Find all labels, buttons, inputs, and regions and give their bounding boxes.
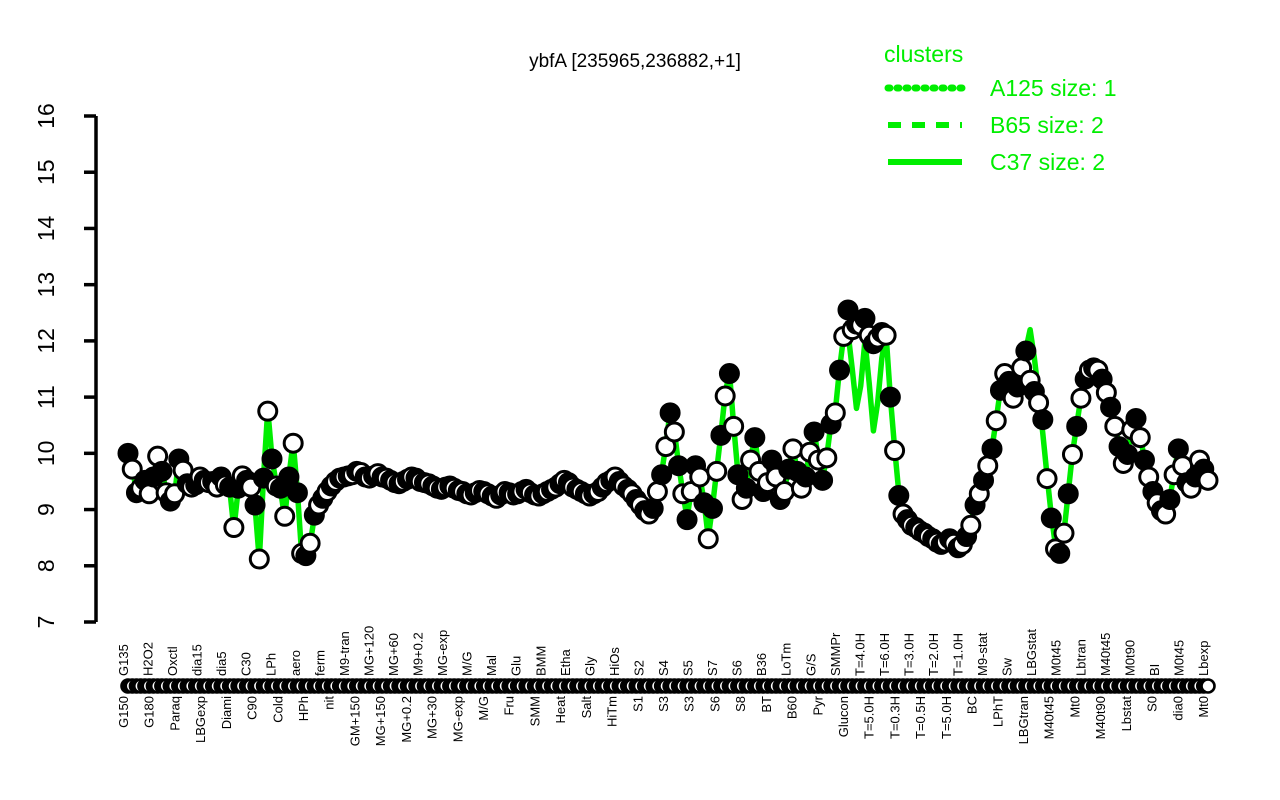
data-point-filled — [805, 423, 823, 441]
x-axis-tick-label: LPh — [263, 653, 278, 676]
data-point-filled — [720, 365, 738, 383]
x-axis-tick-label: Gly — [582, 656, 597, 676]
data-point-filled — [1135, 451, 1153, 469]
x-axis-tick-label: MG+0.2 — [399, 696, 414, 743]
x-axis-tick-label: Heat — [553, 696, 568, 724]
x-axis-tick-label: T=6.0H — [877, 633, 892, 676]
y-axis-tick-label: 16 — [33, 103, 59, 129]
data-point-open — [648, 483, 666, 501]
data-point-filled — [831, 361, 849, 379]
x-axis-tick-label: T=5.0H — [862, 696, 877, 739]
data-point-open — [699, 530, 717, 548]
data-point-open — [725, 417, 743, 435]
x-axis-tick-label: Sw — [1000, 657, 1015, 676]
data-point-filled — [1034, 411, 1052, 429]
data-point-filled — [288, 484, 306, 502]
x-axis-tick-label: MG+150 — [373, 696, 388, 746]
data-point-open — [691, 468, 709, 486]
x-axis-tick-label: LoTm — [779, 643, 794, 676]
x-axis-tick-label: Pyr — [810, 695, 825, 715]
x-axis-tick-label: aero — [288, 650, 303, 676]
x-axis-tick-label: M/G — [460, 651, 475, 676]
x-axis-tick-label: LBGstat — [1024, 629, 1039, 676]
y-axis-tick-label: 13 — [33, 272, 59, 298]
x-axis-tick-label: S7 — [705, 660, 720, 676]
data-point-open — [987, 412, 1005, 430]
data-point-open — [1131, 429, 1149, 447]
x-axis-tick-label: BC — [965, 696, 980, 714]
data-point-filled — [737, 479, 755, 497]
x-axis-tick-label: MG+30 — [425, 696, 440, 739]
x-axis-tick-label: S3 — [656, 696, 671, 712]
x-axis-tick-label: Diami — [219, 696, 234, 729]
data-point-open — [284, 434, 302, 452]
x-axis-tick-label: B60 — [785, 696, 800, 719]
x-axis-tick-label: S4 — [656, 660, 671, 676]
data-point-filled — [890, 487, 908, 505]
data-point-open — [1199, 471, 1217, 489]
data-point-open — [784, 440, 802, 458]
x-axis-tick-label: S3 — [682, 696, 697, 712]
data-point-open — [1106, 417, 1124, 435]
legend-entries: A125 size: 1B65 size: 2C37 size: 2 — [888, 75, 1117, 175]
x-axis-tick-label: B36 — [754, 653, 769, 676]
x-axis-tick-label: dia15 — [190, 644, 205, 676]
x-axis-tick-label: S8 — [733, 696, 748, 712]
x-axis-tick-label: Glu — [509, 656, 524, 676]
x-axis-tick-label: S6 — [707, 696, 722, 712]
data-point-open — [276, 507, 294, 525]
data-point-open — [1055, 524, 1073, 542]
x-axis-tick-label: M9+0.2 — [411, 632, 426, 676]
x-axis-tick-label: Glucon — [836, 696, 851, 737]
x-axis-tick-label: MG+120 — [362, 626, 377, 676]
y-axis-tick-label: 14 — [33, 215, 59, 241]
data-point-filled — [1161, 490, 1179, 508]
data-point-open — [140, 485, 158, 503]
data-point-filled — [246, 496, 264, 514]
data-point-filled — [746, 429, 764, 447]
x-axis-tick-label: C90 — [245, 696, 260, 720]
x-axis-tick-label: ferm — [312, 650, 327, 676]
x-axis-tick-label: M0t90 — [1122, 640, 1137, 676]
data-point-filled — [1102, 398, 1120, 416]
x-axis-tick-label: Lbexp — [1196, 641, 1211, 676]
page-title: ybfA [235965,236882,+1] — [529, 51, 741, 72]
x-axis-tick-label: Lbstat — [1119, 696, 1134, 732]
data-point-filled — [678, 511, 696, 529]
data-point-filled — [814, 471, 832, 489]
x-axis-tick-label: G/S — [803, 653, 818, 676]
legend-label: A125 size: 1 — [990, 75, 1117, 101]
data-point-open — [826, 404, 844, 422]
x-axis-tick-label: SMMPr — [828, 632, 843, 676]
data-point-filled — [983, 440, 1001, 458]
x-axis-tick-label: Cold — [270, 696, 285, 723]
x-axis-tick-label: G150 — [116, 696, 131, 728]
data-point-filled — [703, 499, 721, 517]
data-point-filled — [797, 468, 815, 486]
x-axis-tick-label: T=5.0H — [939, 696, 954, 739]
x-axis-tick-label: T=0.3H — [887, 696, 902, 739]
x-axis-tick-label: dia0 — [1170, 696, 1185, 721]
x-axis-tick-label: HPh — [296, 696, 311, 721]
x-axis-tick-label: S1 — [630, 696, 645, 712]
legend-label: B65 size: 2 — [990, 112, 1104, 138]
chart-page: ybfA [235965,236882,+1] clusters A125 si… — [0, 0, 1280, 800]
y-axis-tick-label: 11 — [33, 385, 59, 409]
x-axis-tick-label: LBGtran — [1016, 696, 1031, 744]
data-point-filled — [1059, 485, 1077, 503]
data-point-filled — [1169, 440, 1187, 458]
x-axis-tick-label: M0t45 — [1172, 640, 1187, 676]
data-point-open — [1072, 389, 1090, 407]
x-axis-tick-label: S6 — [730, 660, 745, 676]
x-axis-tick-label: M/G — [476, 696, 491, 721]
data-point-filled — [263, 450, 281, 468]
data-point-open — [979, 457, 997, 475]
data-point-open — [301, 534, 319, 552]
x-axis-tick-label: M9-tran — [337, 631, 352, 676]
x-axis-tick-label: Paraq — [167, 696, 182, 731]
data-point-filled — [763, 451, 781, 469]
x-axis-tick-label: LPhT — [990, 696, 1005, 727]
data-point-open — [962, 516, 980, 534]
data-point-open — [818, 449, 836, 467]
legend-label: C37 size: 2 — [990, 149, 1105, 175]
x-axis-tick-label: LBGexp — [193, 696, 208, 743]
x-axis-tick-label: MG-exp — [435, 630, 450, 676]
data-point-filled — [1127, 409, 1145, 427]
data-point-open — [716, 387, 734, 405]
y-axis-tick-label: 15 — [33, 159, 59, 185]
x-axis-tick-label: S2 — [632, 660, 647, 676]
x-axis-tick-label: Oxctl — [165, 646, 180, 676]
data-point-open — [250, 550, 268, 568]
data-point-open — [708, 462, 726, 480]
y-axis-tick-label: 10 — [33, 441, 59, 467]
x-axis-tick-label: dia5 — [214, 651, 229, 676]
x-axis-tick-label: G180 — [142, 696, 157, 728]
x-axis-tick-label: nit — [322, 696, 337, 710]
expression-profile-chart: ybfA [235965,236882,+1] clusters A125 si… — [0, 0, 1280, 800]
data-point-open — [886, 442, 904, 460]
x-axis-tick-label: S5 — [681, 660, 696, 676]
x-axis-tick-label: T=2.0H — [926, 633, 941, 676]
data-point-filled — [1119, 445, 1137, 463]
x-axis-tick-label: HiTm — [605, 696, 620, 727]
data-point-open — [259, 402, 277, 420]
x-axis-tick-label: T=0.5H — [913, 696, 928, 739]
data-point-open — [665, 423, 683, 441]
data-point-filled — [1051, 544, 1069, 562]
x-axis-tick-label: T=4.0H — [852, 633, 867, 676]
data-point-filled — [1068, 417, 1086, 435]
x-axis-tick-label: GM+150 — [347, 696, 362, 746]
data-point-open — [1063, 445, 1081, 463]
data-point-filled — [1017, 342, 1035, 360]
data-point-open — [775, 483, 793, 501]
data-point-filled — [670, 457, 688, 475]
y-axis-tick-label: 12 — [33, 328, 59, 354]
data-point-filled — [653, 466, 671, 484]
x-axis-tick-label: H2O2 — [141, 642, 156, 676]
x-axis-tick-label: Fru — [502, 696, 517, 716]
x-axis-tick-label: M40t45 — [1098, 633, 1113, 676]
data-point-filled — [644, 499, 662, 517]
data-point-open — [1038, 470, 1056, 488]
data-point-filled — [661, 404, 679, 422]
data-point-filled — [856, 309, 874, 327]
x-axis-tick-label: SMM — [527, 696, 542, 726]
x-axis-tick-label: HiOs — [607, 647, 622, 676]
x-axis-tick-label: Mal — [484, 655, 499, 676]
data-point-filled — [881, 388, 899, 406]
x-axis-tick-label: G135 — [116, 644, 131, 676]
x-axis-tick-label: S0 — [1145, 696, 1160, 712]
x-axis-tick-label: BT — [759, 696, 774, 713]
data-point-filled — [153, 462, 171, 480]
data-point-open — [225, 519, 243, 537]
y-axis-tick-label: 9 — [33, 503, 59, 516]
y-axis-tick-label: 7 — [33, 616, 59, 629]
x-axis-tick-label: C30 — [239, 652, 254, 676]
data-point-open — [877, 326, 895, 344]
x-axis-tick-label: Etha — [558, 648, 573, 676]
x-axis-tick-label: MG+60 — [386, 633, 401, 676]
x-axis-tick-label: Mt0 — [1067, 696, 1082, 718]
x-axis-sample-marker — [1202, 680, 1215, 693]
data-point-open — [1030, 394, 1048, 412]
x-axis-tick-label: T=3.0H — [902, 633, 917, 676]
x-axis-tick-label: M0t45 — [1049, 640, 1064, 676]
x-axis-tick-label: BI — [1147, 664, 1162, 676]
x-axis-tick-label: MG-exp — [450, 696, 465, 742]
x-axis-tick-label: M9-stat — [975, 632, 990, 676]
y-axis-tick-label: 8 — [33, 559, 59, 572]
x-axis-tick-label: M40t45 — [1042, 696, 1057, 739]
x-axis-tick-label: BMM — [533, 646, 548, 676]
x-axis-tick-label: Salt — [579, 696, 594, 719]
legend-title: clusters — [884, 41, 963, 67]
x-axis-tick-label: T=1.0H — [951, 633, 966, 676]
x-axis-tick-label: Lbtran — [1073, 639, 1088, 676]
data-point-filled — [1042, 509, 1060, 527]
x-axis-tick-label: M40t90 — [1093, 696, 1108, 739]
x-axis-tick-label: Mt0 — [1196, 696, 1211, 718]
